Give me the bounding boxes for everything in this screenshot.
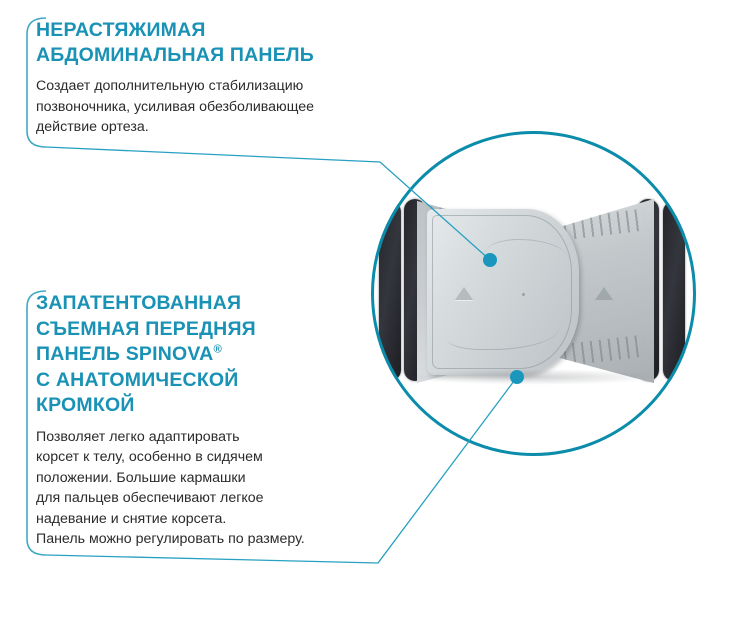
emboss-dot bbox=[522, 293, 525, 296]
callout-1-title: НЕРАСТЯЖИМАЯ АБДОМИНАЛЬНАЯ ПАНЕЛЬ bbox=[36, 18, 376, 68]
callout-2-body: Позволяет легко адаптировать корсет к те… bbox=[36, 427, 376, 550]
callout-1-title-line-1: НЕРАСТЯЖИМАЯ bbox=[36, 19, 206, 41]
callout-2-title: ЗАПАТЕНТОВАННАЯ СЪЕМНАЯ ПЕРЕДНЯЯ ПАНЕЛЬ … bbox=[36, 291, 376, 419]
callout-2-body-line-4: для пальцев обеспечивают легкое bbox=[36, 490, 264, 506]
callout-2-body-line-3: положении. Большие кармашки bbox=[36, 470, 246, 486]
orthosis-product-image bbox=[379, 193, 689, 389]
callout-2-body-line-5: надевание и снятие корсета. bbox=[36, 511, 226, 527]
registered-trademark-symbol: ® bbox=[213, 344, 222, 356]
velcro-strap-left-outer bbox=[379, 201, 401, 381]
callout-2-body-line-2: корсет к телу, особенно в сидячем bbox=[36, 449, 263, 465]
callout-1-body-line-1: Создает дополнительную стабилизацию bbox=[36, 78, 303, 94]
emboss-arrow-front-icon bbox=[455, 287, 473, 300]
callout-2-title-line-4: С АНАТОМИЧЕСКОЙ bbox=[36, 369, 239, 391]
velcro-strap-right-outer bbox=[663, 201, 685, 381]
callout-1-body-line-3: действие ортеза. bbox=[36, 119, 149, 135]
callout-2-title-line-3-brand: ПАНЕЛЬ SPINOVA® bbox=[36, 343, 222, 365]
callout-2-title-line-1: ЗАПАТЕНТОВАННАЯ bbox=[36, 292, 241, 314]
callout-1-body-line-2: позвоночника, усиливая обезболивающее bbox=[36, 99, 314, 115]
callout-2-title-line-5: КРОМКОЙ bbox=[36, 394, 135, 416]
callout-2-title-line-2: СЪЕМНАЯ ПЕРЕДНЯЯ bbox=[36, 318, 256, 340]
callout-1-title-line-2: АБДОМИНАЛЬНАЯ ПАНЕЛЬ bbox=[36, 44, 314, 66]
infographic-root: НЕРАСТЯЖИМАЯ АБДОМИНАЛЬНАЯ ПАНЕЛЬ Создае… bbox=[0, 0, 735, 618]
callout-spinova-front-panel: ЗАПАТЕНТОВАННАЯ СЪЕМНАЯ ПЕРЕДНЯЯ ПАНЕЛЬ … bbox=[36, 291, 376, 550]
callout-1-body: Создает дополнительную стабилизацию позв… bbox=[36, 76, 376, 138]
emboss-arrow-rear-icon bbox=[595, 287, 613, 300]
callout-abdominal-panel: НЕРАСТЯЖИМАЯ АБДОМИНАЛЬНАЯ ПАНЕЛЬ Создае… bbox=[36, 18, 376, 138]
product-drop-shadow bbox=[409, 369, 659, 385]
product-photo-circle bbox=[371, 131, 696, 456]
callout-2-body-line-1: Позволяет легко адаптировать bbox=[36, 429, 240, 445]
callout-2-body-line-6: Панель можно регулировать по размеру. bbox=[36, 531, 305, 547]
spinova-front-panel-part bbox=[427, 209, 579, 375]
